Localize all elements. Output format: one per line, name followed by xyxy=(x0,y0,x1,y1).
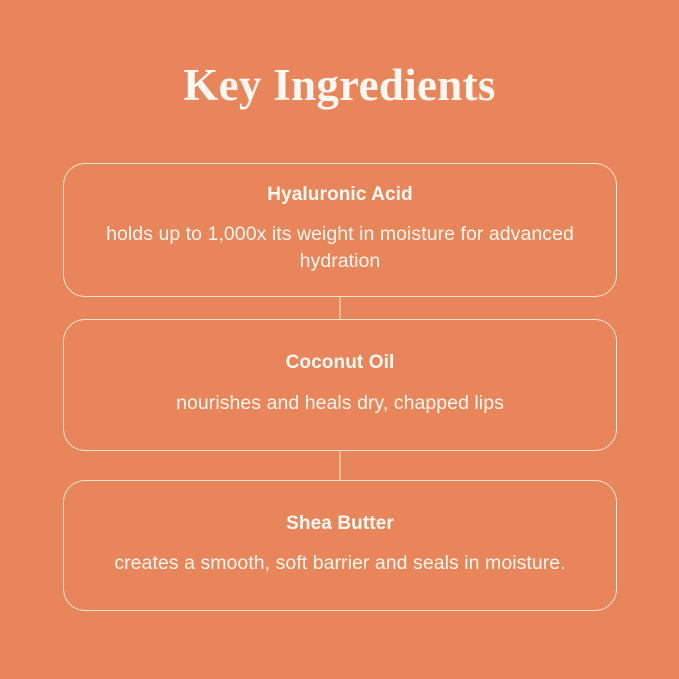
ingredient-description: nourishes and heals dry, chapped lips xyxy=(176,390,504,418)
ingredient-description: creates a smooth, soft barrier and seals… xyxy=(114,550,565,578)
ingredient-card: Hyaluronic Acid holds up to 1,000x its w… xyxy=(63,163,617,297)
ingredient-card: Coconut Oil nourishes and heals dry, cha… xyxy=(63,319,617,451)
key-ingredients-infographic: Key Ingredients Hyaluronic Acid holds up… xyxy=(0,0,679,679)
ingredient-name: Hyaluronic Acid xyxy=(267,184,412,207)
ingredient-name: Coconut Oil xyxy=(286,352,395,375)
page-title: Key Ingredients xyxy=(0,62,679,109)
ingredient-name: Shea Butter xyxy=(286,513,394,536)
ingredient-description: holds up to 1,000x its weight in moistur… xyxy=(100,221,580,276)
ingredient-list: Hyaluronic Acid holds up to 1,000x its w… xyxy=(63,163,617,611)
ingredient-card: Shea Butter creates a smooth, soft barri… xyxy=(63,480,617,611)
